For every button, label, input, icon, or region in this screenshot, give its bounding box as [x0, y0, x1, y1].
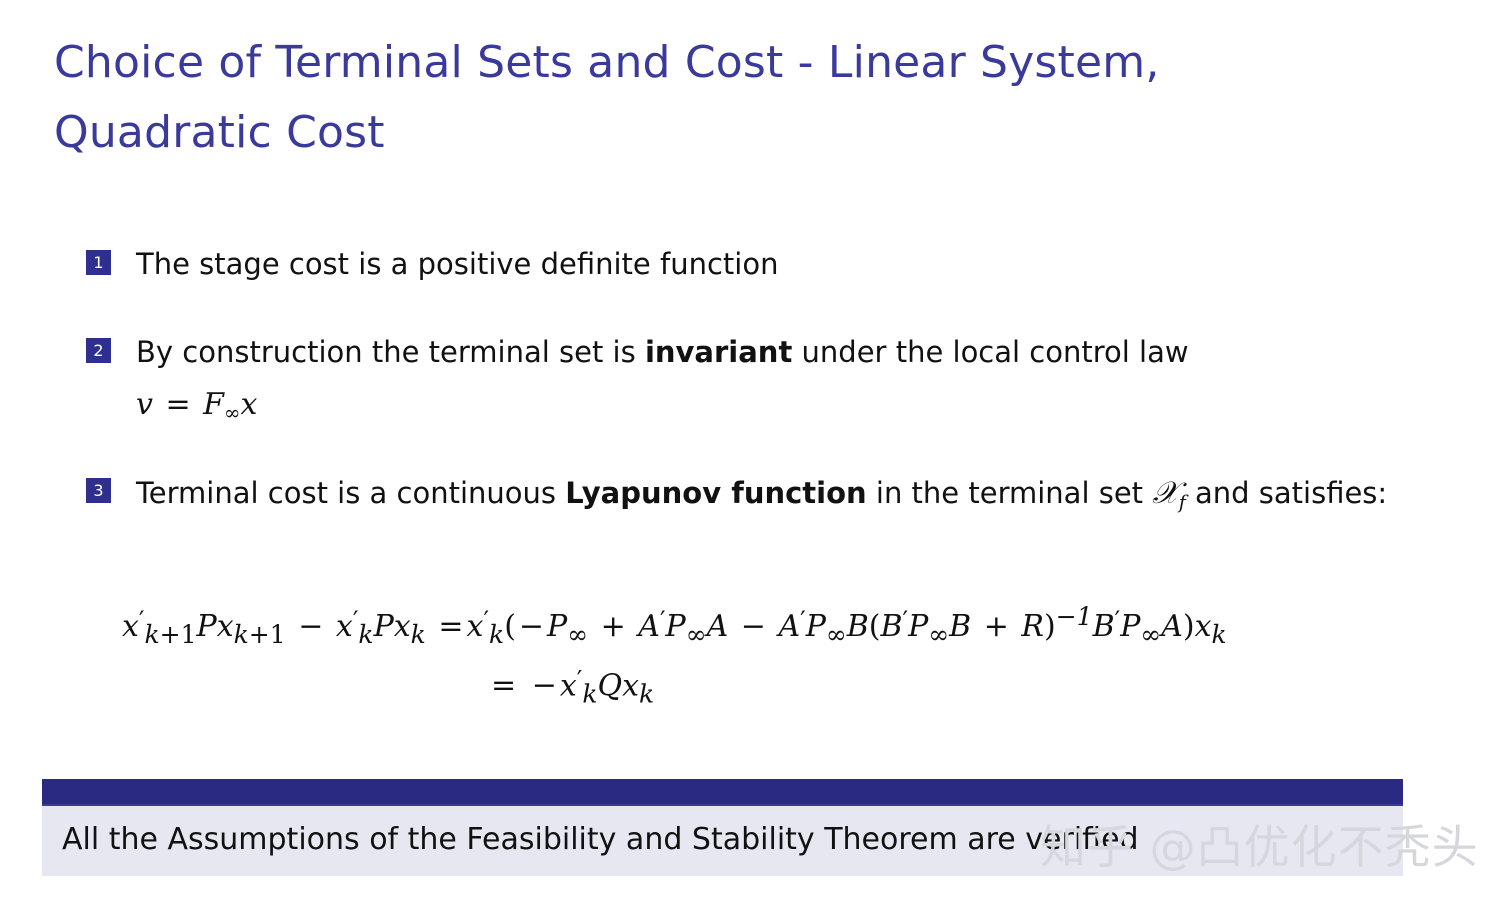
- block-title-bar: [42, 779, 1403, 806]
- item3-bold-term: Lyapunov function: [565, 476, 866, 510]
- item2-bold-term: invariant: [645, 335, 792, 369]
- item2-text-after: under the local control law: [792, 335, 1188, 369]
- list-item: 1 The stage cost is a positive definite …: [86, 243, 1416, 285]
- equation-line-2: = −x′kQxk: [122, 665, 1462, 708]
- list-item-text-3: Terminal cost is a continuous Lyapunov f…: [136, 471, 1416, 517]
- list-item: 3 Terminal cost is a continuous Lyapunov…: [86, 471, 1416, 517]
- page-title: Choice of Terminal Sets and Cost - Linea…: [54, 28, 1384, 167]
- item3-text-after: in the terminal set: [867, 476, 1153, 510]
- enumerated-list: 1 The stage cost is a positive definite …: [86, 243, 1416, 517]
- conclusion-block: All the Assumptions of the Feasibility a…: [42, 779, 1403, 876]
- list-item-badge-2: 2: [86, 338, 111, 363]
- item3-text-tail: and satisfies:: [1186, 476, 1387, 510]
- slide-canvas: Choice of Terminal Sets and Cost - Linea…: [0, 0, 1488, 914]
- list-item-badge-1: 1: [86, 250, 111, 275]
- list-item: 2 By construction the terminal set is in…: [86, 331, 1416, 427]
- item2-text-before: By construction the terminal set is: [136, 335, 645, 369]
- list-item-text-2: By construction the terminal set is inva…: [136, 331, 1416, 427]
- item3-text-before: Terminal cost is a continuous: [136, 476, 565, 510]
- block-body: All the Assumptions of the Feasibility a…: [42, 806, 1403, 876]
- block-text: All the Assumptions of the Feasibility a…: [62, 822, 1383, 858]
- display-equation: x′k+1Pxk+1 − x′kPxk =x′k(−P∞ + A′P∞A − A…: [122, 602, 1462, 708]
- list-item-text-1: The stage cost is a positive definite fu…: [136, 243, 1416, 285]
- terminal-set-symbol: 𝒳f: [1152, 475, 1186, 511]
- list-item-badge-3: 3: [86, 478, 111, 503]
- item2-inline-equation: v = F∞x: [136, 383, 1416, 427]
- equation-line-1: x′k+1Pxk+1 − x′kPxk =x′k(−P∞ + A′P∞A − A…: [122, 602, 1462, 649]
